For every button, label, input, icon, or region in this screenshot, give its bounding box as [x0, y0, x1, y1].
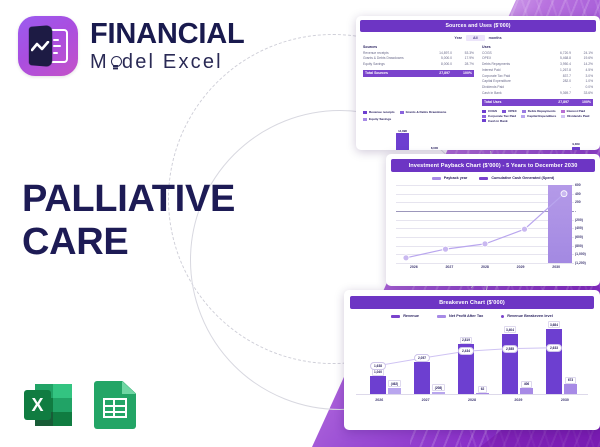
- file-format-icons: X: [24, 381, 136, 429]
- brand-subtitle: M del Excel: [90, 52, 244, 72]
- uses-bar: 9,369: [572, 142, 580, 150]
- payback-y-tick: 200: [575, 200, 599, 204]
- sources-legend-label: Grants & Debts Drawdowns: [406, 110, 447, 115]
- sources-bar: 8,000: [428, 146, 441, 150]
- payback-y-tick: (600): [575, 235, 599, 239]
- revenue-bar-label: 3,684: [548, 321, 561, 328]
- sources-legend: Revenue receiptsGrants & Debts Drawdowns…: [363, 109, 474, 124]
- sources-legend-item: Equity Savings: [363, 116, 391, 123]
- revenue-bar-label: 2,819: [460, 337, 473, 344]
- payback-legend-item: Payback year: [432, 176, 468, 180]
- brand-text: FINANCIAL M del Excel: [90, 20, 244, 72]
- revenue-bar-label: 3,404: [504, 326, 517, 333]
- payback-legend-item: Cumulative Cash Generated (Spent): [479, 176, 554, 180]
- breakeven-x-tick: 2027: [402, 398, 448, 402]
- sources-legend-label: Revenue receipts: [369, 110, 395, 115]
- sources-bar: 14,898: [396, 129, 409, 150]
- breakeven-x-tick: 2030: [542, 398, 588, 402]
- breakeven-x-axis: 20262027202820292030: [356, 398, 588, 402]
- sources-and-uses-title: Sources and Uses ($'000): [360, 20, 596, 32]
- payback-legend-label: Cumulative Cash Generated (Spent): [491, 176, 554, 180]
- net-profit-bar-label: 62: [478, 386, 487, 393]
- uses-total-pct: 100%: [569, 100, 591, 104]
- sources-uses-charts: 14,8985,0008,000 6,7215,4693,9511,268837…: [356, 123, 600, 150]
- uses-total-row: Total Uses 27,897 100%: [482, 99, 593, 106]
- sources-legend-label: Equity Savings: [369, 117, 391, 122]
- breakeven-bar-group: 2,81962: [458, 337, 489, 395]
- payback-y-tick: (800): [575, 244, 599, 248]
- sources-and-uses-card[interactable]: Sources and Uses ($'000) Year All months…: [356, 16, 600, 150]
- breakeven-level-label: 2,585: [502, 345, 518, 353]
- payback-y-tick: (200): [575, 218, 599, 222]
- filter-label: Year: [454, 36, 462, 40]
- wave-chart-icon: [31, 41, 50, 53]
- payback-x-tick: 2030: [538, 265, 574, 269]
- uses-legend-label: Cash in Bank: [488, 119, 508, 124]
- uses-bar-chart: 6,7215,4693,9511,268837282-9,369: [483, 125, 592, 150]
- revenue-bar-label: 1,040: [372, 369, 385, 376]
- investment-payback-card[interactable]: Investment Payback Chart ($'000) - 5 Yea…: [386, 154, 600, 286]
- excel-icon: X: [24, 381, 72, 429]
- page-title-line1: PALLIATIVE: [22, 178, 235, 221]
- payback-y-tick: -: [575, 209, 599, 213]
- revenue-bar: 3,404: [502, 326, 518, 395]
- payback-y-tick: (1,000): [575, 252, 599, 256]
- sources-legend-item: Grants & Debts Drawdowns: [400, 109, 447, 116]
- breakeven-level-label: 1,638: [370, 362, 386, 370]
- investment-payback-title: Investment Payback Chart ($'000) - 5 Yea…: [391, 159, 595, 172]
- sources-row: Equity Savings8,000.028.7%: [363, 62, 474, 68]
- breakeven-legend: RevenueNet Profit After TaxRevenue Break…: [344, 314, 600, 318]
- excel-x-letter: X: [24, 390, 51, 420]
- breakeven-title: Breakeven Chart ($'000): [350, 296, 594, 309]
- sources-bar-chart: 14,8985,0008,000: [364, 125, 473, 150]
- sources-table: Sources Revenue receipts14,897.053.3%Gra…: [363, 45, 474, 106]
- sources-total-row: Total Sources 27,897 100%: [363, 70, 474, 77]
- sources-legend-item: Revenue receipts: [363, 109, 395, 116]
- uses-legend-label: Capital Expenditure: [527, 114, 556, 119]
- net-profit-bar-label: 673: [565, 377, 575, 384]
- sources-total-label: Total Sources: [365, 71, 416, 75]
- uses-bar-label: 6,721: [495, 149, 502, 150]
- filter-dropdown[interactable]: All: [466, 35, 485, 41]
- breakeven-bar-group: 3,404406: [502, 326, 533, 395]
- revenue-bar: 3,684: [546, 321, 562, 395]
- breakeven-plot-area: 1,040(462)1,848(208)2,819623,4044063,684…: [356, 325, 588, 395]
- sources-total-value: 27,897: [416, 71, 450, 75]
- breakeven-level-label: 2,057: [414, 354, 430, 362]
- sources-uses-legends: Revenue receiptsGrants & Debts Drawdowns…: [356, 106, 600, 124]
- net-profit-bar: (462): [388, 380, 401, 395]
- uses-name: Cash in Bank: [482, 91, 537, 97]
- payback-x-tick: 2028: [467, 265, 503, 269]
- breakeven-level-label: 2,633: [546, 344, 562, 352]
- payback-gridline: [396, 263, 574, 264]
- uses-legend-item: Dividends Paid: [561, 114, 589, 119]
- uses-legend-item: Cash in Bank: [482, 119, 508, 124]
- payback-y-tick: (400): [575, 226, 599, 230]
- breakeven-legend-label: Net Profit After Tax: [449, 314, 483, 318]
- uses-legend-item: Capital Expenditure: [521, 114, 556, 119]
- uses-total-label: Total Uses: [484, 100, 535, 104]
- sources-pct: 28.7%: [452, 62, 474, 68]
- lightbulb-icon: [110, 55, 121, 69]
- breakeven-bar-group: 1,040(462): [370, 369, 401, 395]
- breakeven-bar-group: 3,684673: [546, 321, 577, 395]
- uses-value: 9,369.7: [537, 91, 571, 97]
- brand-logo: FINANCIAL M del Excel: [18, 16, 244, 76]
- payback-x-axis: 20262027202820292030: [396, 265, 574, 269]
- net-profit-bar-label: (208): [432, 384, 444, 391]
- sources-uses-tables: Sources Revenue receipts14,897.053.3%Gra…: [356, 41, 600, 106]
- payback-legend-label: Payback year: [444, 176, 468, 180]
- payback-plot-area: 600400200-(200)(400)(600)(800)(1,000)(1,…: [396, 185, 574, 263]
- uses-total-value: 27,897: [535, 100, 569, 104]
- page-title-line2: CARE: [22, 221, 235, 264]
- brand-subtitle-post: del Excel: [122, 52, 223, 72]
- uses-pct: 33.6%: [571, 91, 593, 97]
- payback-legend: Payback yearCumulative Cash Generated (S…: [386, 176, 600, 180]
- uses-bar-label: 9,369: [572, 142, 579, 146]
- breakeven-x-tick: 2029: [495, 398, 541, 402]
- promo-slide: FINANCIAL M del Excel PALLIATIVE CARE X …: [0, 0, 600, 447]
- breakeven-legend-label: Revenue: [403, 314, 419, 318]
- breakeven-legend-label: Revenue Breakeven level: [507, 314, 553, 318]
- google-sheets-icon: [94, 381, 136, 429]
- uses-legend: COGSOPEXDebts RepaymentsInterest PaidCor…: [482, 109, 593, 124]
- uses-table: Uses COGS6,720.924.1%OPEX5,468.819.6%Deb…: [482, 45, 593, 106]
- revenue-bar: 2,819: [458, 337, 474, 395]
- payback-x-tick: 2029: [503, 265, 539, 269]
- breakeven-legend-item: Revenue: [391, 314, 419, 318]
- breakeven-legend-item: Revenue Breakeven level: [501, 314, 553, 318]
- payback-x-tick: 2026: [396, 265, 432, 269]
- net-profit-bar: 673: [564, 377, 577, 395]
- payback-y-tick: 400: [575, 192, 599, 196]
- financial-model-logo-icon: [18, 16, 78, 76]
- sources-header: Sources: [363, 45, 474, 49]
- uses-row: Cash in Bank9,369.733.6%: [482, 91, 593, 97]
- cumulative-cash-line: [396, 185, 574, 263]
- uses-legend-label: Dividends Paid: [567, 114, 589, 119]
- page-title: PALLIATIVE CARE: [22, 178, 235, 263]
- breakeven-card[interactable]: Breakeven Chart ($'000) RevenueNet Profi…: [344, 290, 600, 430]
- net-profit-bar: 406: [520, 381, 533, 395]
- sources-bar-label: 14,898: [398, 129, 407, 133]
- uses-header: Uses: [482, 45, 593, 49]
- filter-suffix: months: [489, 36, 502, 40]
- sources-total-pct: 100%: [450, 71, 472, 75]
- brand-title: FINANCIAL: [90, 20, 244, 49]
- sources-value: 8,000.0: [418, 62, 452, 68]
- net-profit-bar: (208): [432, 384, 445, 395]
- payback-y-tick: 600: [575, 183, 599, 187]
- brand-subtitle-pre: M: [90, 52, 109, 72]
- revenue-bar: 1,040: [370, 369, 386, 395]
- sources-name: Equity Savings: [363, 62, 418, 68]
- payback-x-tick: 2027: [432, 265, 468, 269]
- breakeven-x-tick: 2026: [356, 398, 402, 402]
- breakeven-level-label: 2,434: [458, 347, 474, 355]
- net-profit-bar-label: (462): [388, 380, 400, 387]
- breakeven-x-tick: 2028: [449, 398, 495, 402]
- net-profit-bar-label: 406: [521, 381, 531, 388]
- breakeven-legend-item: Net Profit After Tax: [437, 314, 483, 318]
- sources-bar-label: 8,000: [431, 146, 438, 150]
- uses-bar: 6,721: [495, 149, 503, 150]
- payback-y-tick: (1,200): [575, 261, 599, 265]
